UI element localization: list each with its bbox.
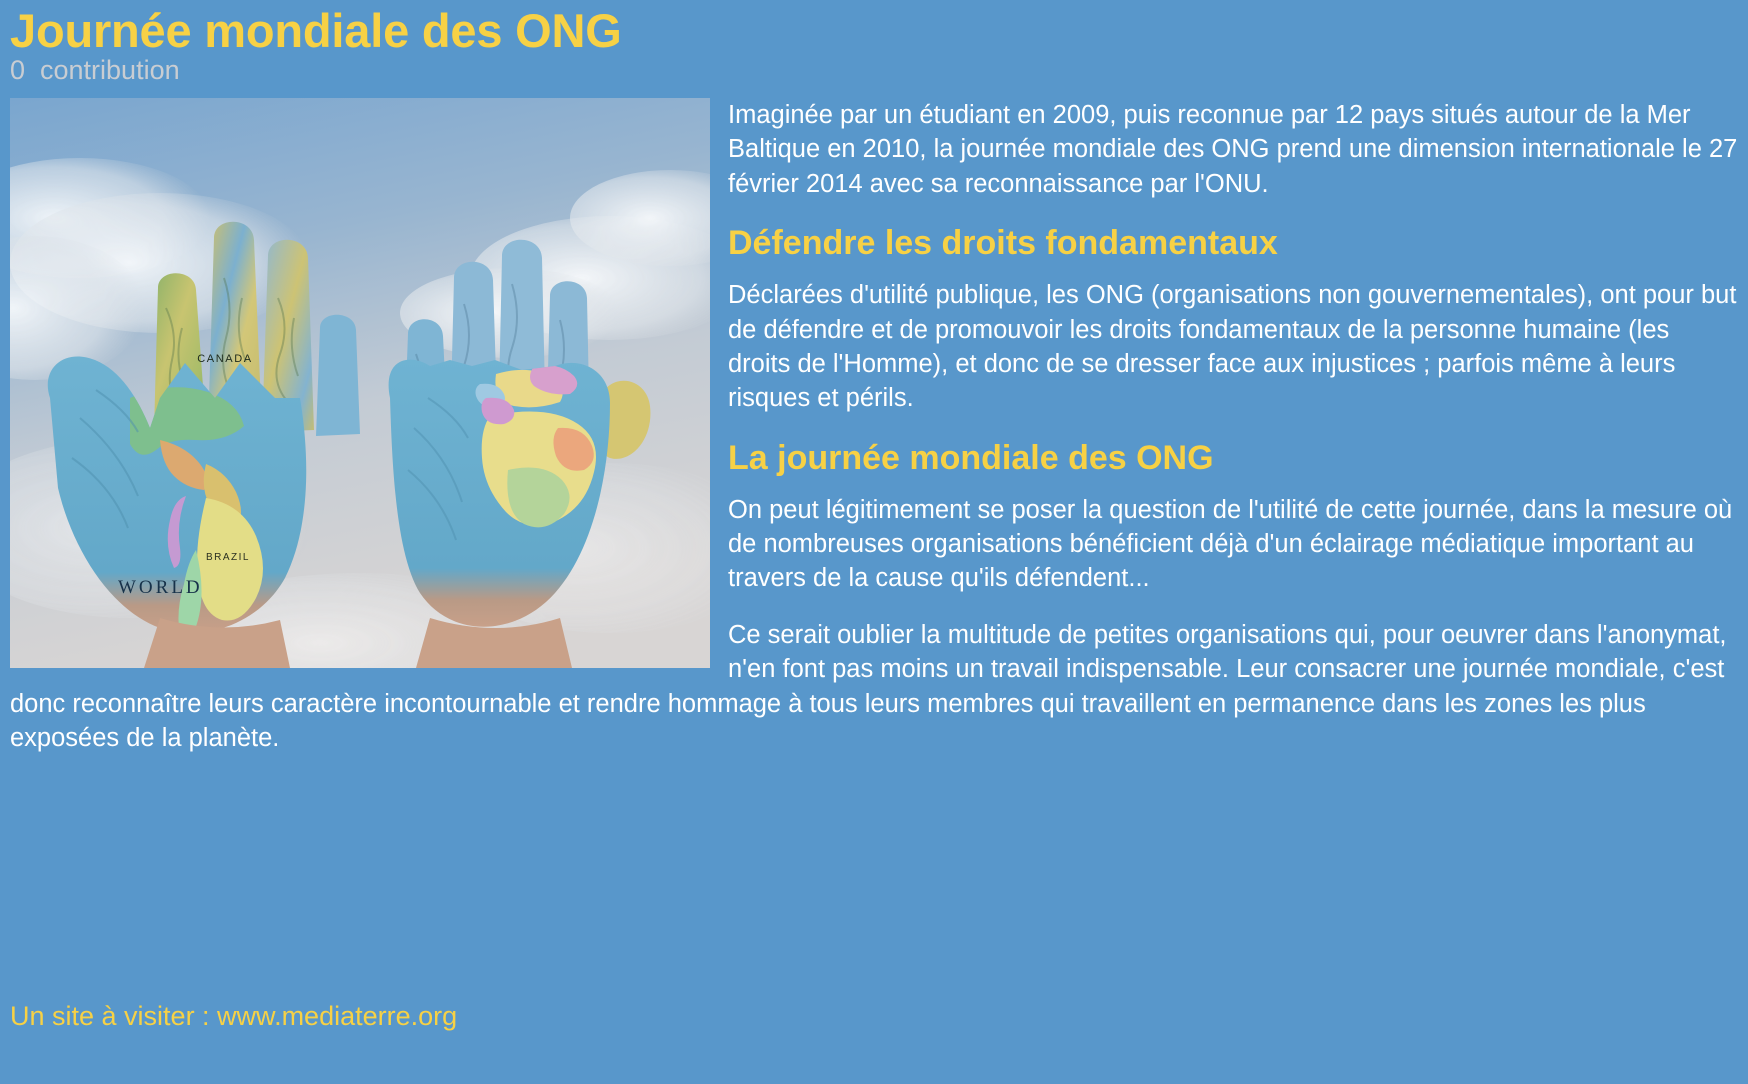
svg-text:BRAZIL: BRAZIL bbox=[206, 552, 250, 563]
page-title: Journée mondiale des ONG bbox=[10, 6, 1748, 55]
article-header: Journée mondiale des ONG 0 contribution bbox=[0, 0, 1748, 86]
site-link[interactable]: Un site à visiter : www.mediaterre.org bbox=[10, 1000, 457, 1032]
article-page: Journée mondiale des ONG 0 contribution bbox=[0, 0, 1748, 1084]
hands-world-map-illustration: CANADA UNITED STATES BRAZIL bbox=[10, 98, 710, 668]
svg-text:CANADA: CANADA bbox=[197, 353, 252, 365]
svg-text:WORLD: WORLD bbox=[118, 577, 203, 598]
hero-image-hands-world-map: CANADA UNITED STATES BRAZIL bbox=[10, 98, 710, 668]
contribution-count: 0 contribution bbox=[10, 56, 1748, 86]
article-body: CANADA UNITED STATES BRAZIL bbox=[0, 98, 1748, 756]
